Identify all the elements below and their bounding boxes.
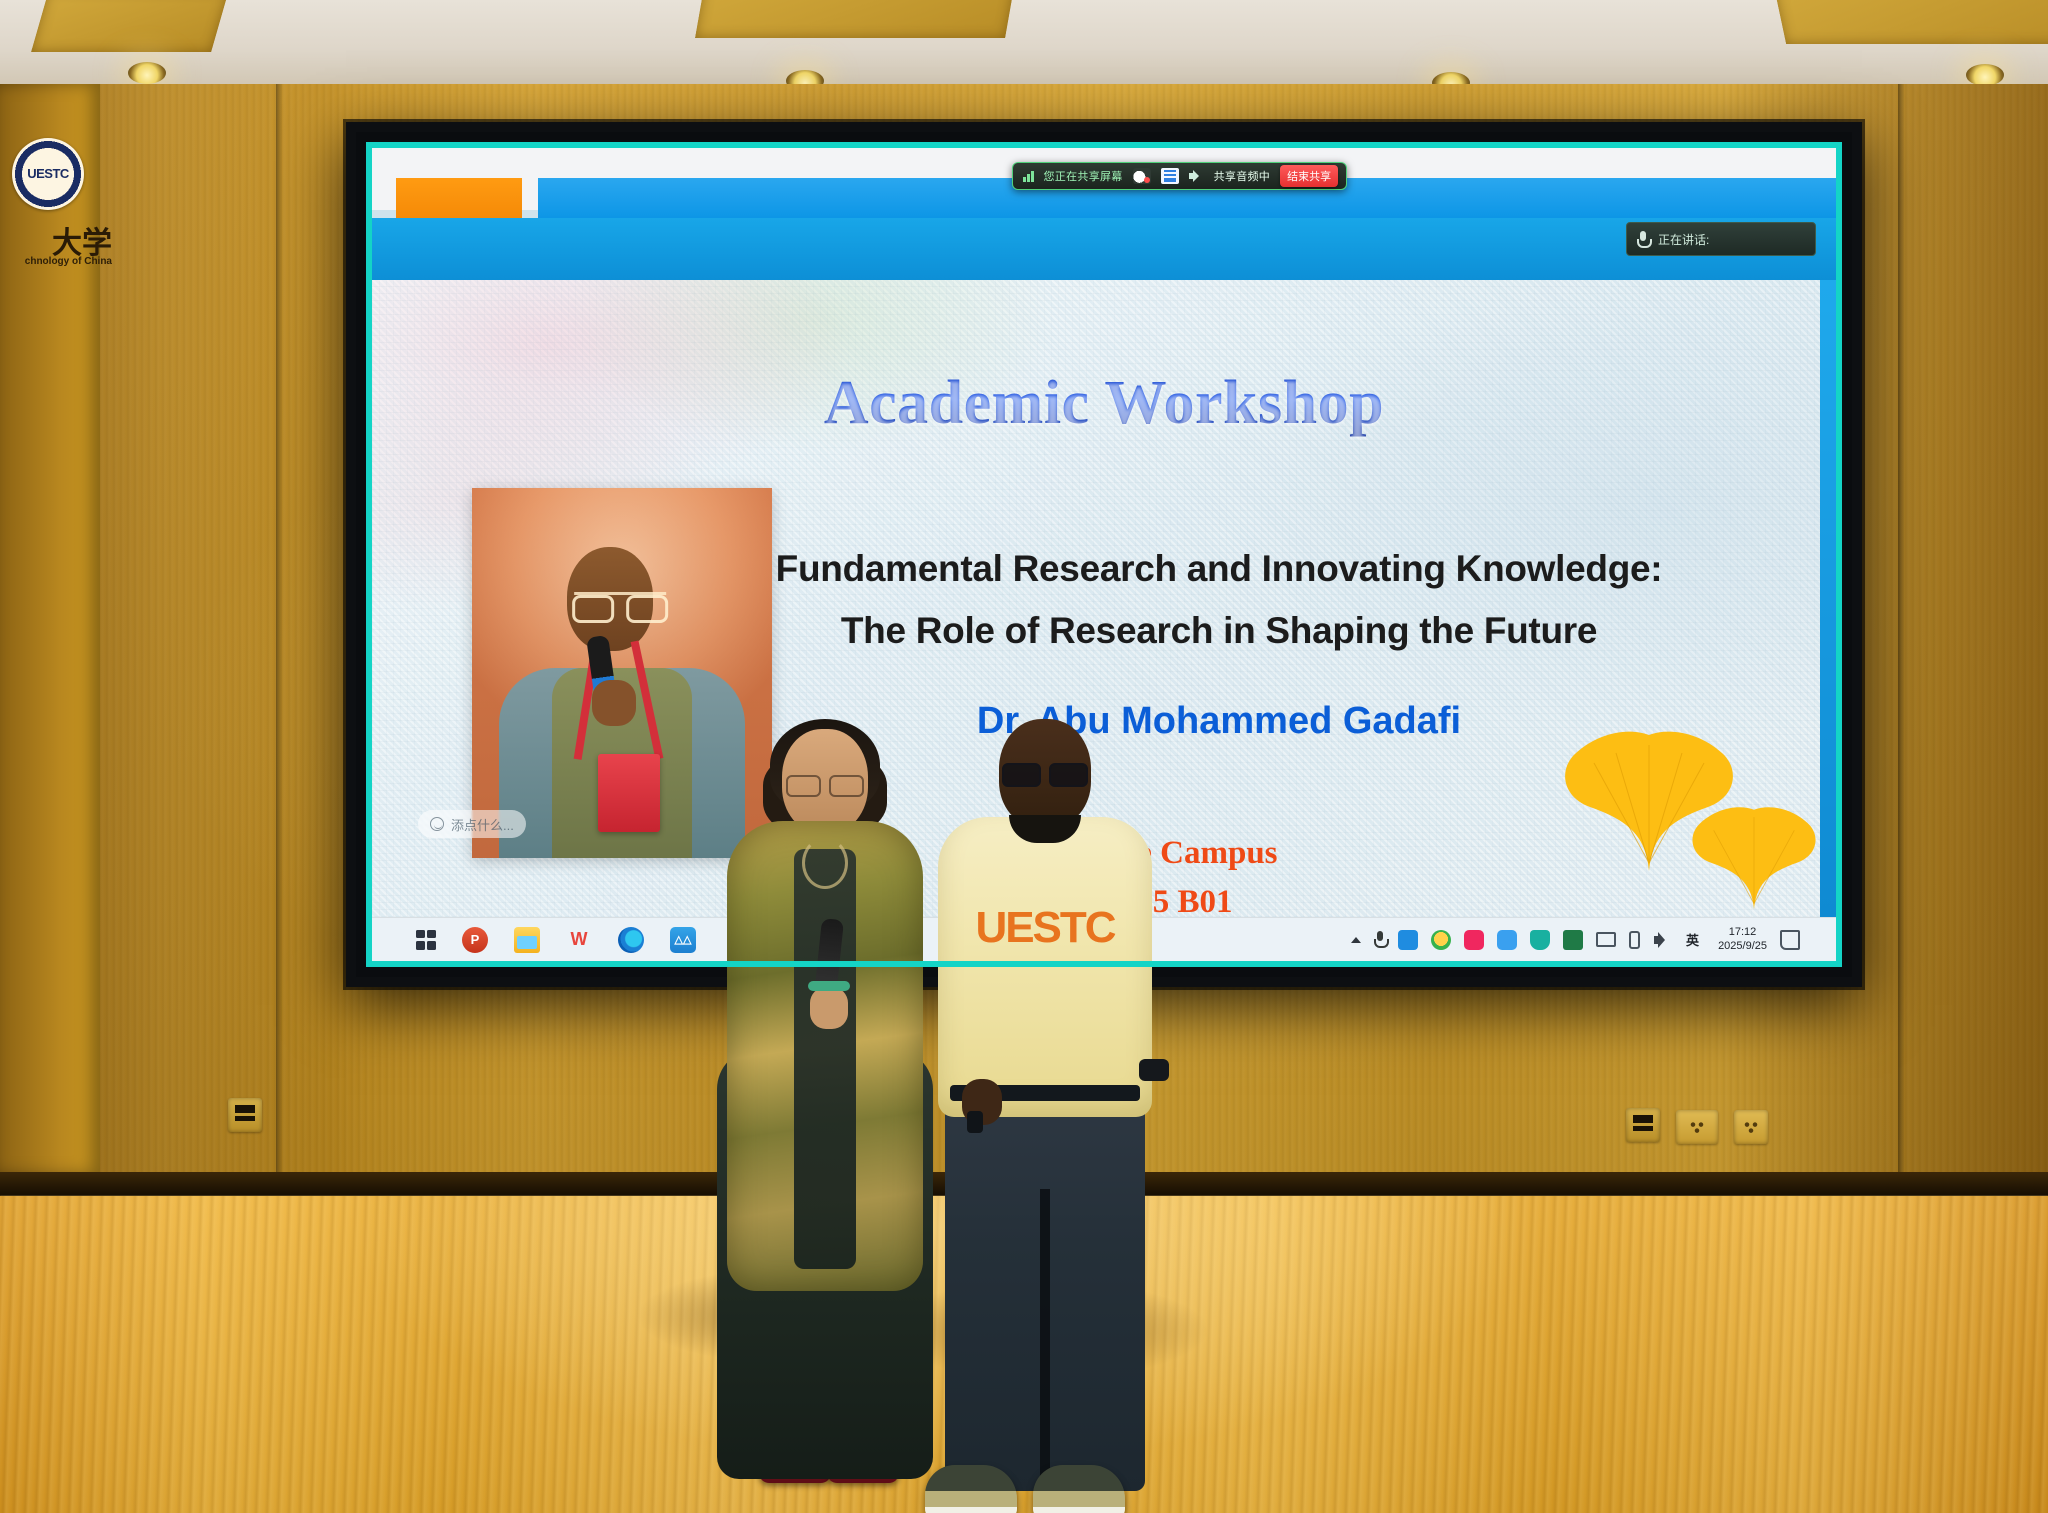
meeting-icon: △△ — [670, 927, 696, 953]
taskbar-app-powerpoint[interactable]: P — [462, 927, 488, 953]
end-share-button[interactable]: 结束共享 — [1280, 165, 1338, 187]
ceiling-downlight — [128, 62, 166, 84]
uestc-emblem-text: UESTC — [12, 166, 84, 181]
volume-icon[interactable] — [1653, 930, 1673, 950]
cloud-icon[interactable] — [1133, 168, 1151, 184]
sunglasses — [1002, 763, 1088, 785]
uestc-wall-logo: UESTC 1956 大学 chnology of China — [2, 130, 112, 280]
screen-share-toolbar[interactable]: 您正在共享屏幕 共享音频中 结束共享 — [1012, 162, 1347, 190]
taskbar-app-microsoft-edge[interactable] — [618, 927, 644, 953]
notes-icon[interactable] — [1464, 930, 1484, 950]
slide-right-accent-bar — [1820, 280, 1836, 917]
screen-watermark-bubble[interactable]: 添点什么... — [418, 810, 526, 838]
meeting-icon[interactable] — [1398, 930, 1418, 950]
ceiling — [0, 0, 2048, 92]
microphone-icon[interactable] — [1374, 931, 1385, 948]
battery-icon[interactable] — [1629, 931, 1640, 949]
app-secondary-blue-bar — [372, 218, 1836, 280]
folder-icon — [517, 936, 537, 949]
excel-icon[interactable] — [1563, 930, 1583, 950]
speaking-indicator[interactable]: 正在讲话: — [1626, 222, 1816, 256]
start-button[interactable] — [416, 930, 436, 950]
signal-bars-icon — [1023, 170, 1034, 182]
sneaker — [925, 1465, 1017, 1513]
watermark-text: 添点什么... — [451, 815, 514, 834]
chevron-up-icon[interactable] — [1351, 937, 1361, 943]
system-tray: 英 17:12 2025/9/25 — [1351, 926, 1836, 954]
person-right-man: UESTC — [915, 719, 1175, 1513]
wall-light-switch[interactable] — [1676, 1110, 1718, 1144]
uestc-shirt-logo: UESTC — [975, 903, 1114, 953]
wristwatch — [1139, 1059, 1169, 1081]
speaker-icon[interactable] — [1189, 170, 1204, 182]
presentation-clicker — [967, 1111, 983, 1133]
slide-subtitle-2: The Role of Research in Shaping the Futu… — [672, 610, 1766, 652]
wps-icon: W — [566, 927, 592, 953]
sneaker — [1033, 1465, 1125, 1513]
necklace — [802, 837, 848, 889]
wall-control-panel[interactable] — [1626, 1108, 1660, 1142]
taskbar-app-list: P W △△ V — [372, 927, 748, 953]
shield-icon[interactable] — [1530, 930, 1550, 950]
wall-seam — [1898, 84, 1904, 1174]
share-status-label: 您正在共享屏幕 — [1044, 168, 1123, 184]
uestc-english-name: chnology of China — [2, 256, 112, 267]
share-audio-label: 共享音频中 — [1214, 168, 1271, 184]
uestc-emblem: UESTC 1956 — [12, 138, 84, 210]
eyeglasses — [786, 775, 864, 795]
ginkgo-leaf-decoration — [1684, 801, 1824, 911]
taskbar-clock[interactable]: 17:12 2025/9/25 — [1712, 926, 1767, 954]
ceiling-downlight — [1966, 64, 2004, 86]
ceiling-wood-panel — [31, 0, 229, 52]
conference-room-scene: UESTC 1956 大学 chnology of China — [0, 0, 2048, 1513]
taskbar-app-meeting[interactable]: △△ — [670, 927, 696, 953]
clock-time: 17:12 — [1718, 926, 1767, 940]
slide-title: Academic Workshop — [372, 368, 1836, 439]
notification-icon[interactable] — [1780, 930, 1800, 950]
microphone-icon — [1637, 231, 1648, 248]
green-bracelet — [808, 981, 850, 991]
ime-indicator[interactable]: 英 — [1686, 930, 1699, 949]
person-left-woman — [700, 729, 950, 1513]
uestc-tshirt — [938, 817, 1152, 1117]
cloud-sync-icon[interactable] — [1497, 930, 1517, 950]
ceiling-wood-panel — [1774, 0, 2048, 44]
wall-control-panel[interactable] — [228, 1098, 262, 1132]
wall-power-outlet[interactable] — [1734, 1110, 1768, 1144]
clock-date: 2025/9/25 — [1718, 940, 1767, 954]
powerpoint-icon: P — [462, 927, 488, 953]
annotate-icon[interactable] — [1161, 168, 1179, 184]
uestc-emblem-year: 1956 — [12, 201, 84, 208]
taskbar-app-file-explorer[interactable] — [514, 927, 540, 953]
display-icon[interactable] — [1596, 932, 1616, 947]
taskbar-app-wps-office[interactable]: W — [566, 927, 592, 953]
security-icon[interactable] — [1431, 930, 1451, 950]
slide-subtitle-1: Fundamental Research and Innovating Know… — [672, 548, 1766, 590]
speaking-label: 正在讲话: — [1658, 231, 1709, 248]
ceiling-wood-panel — [695, 0, 1015, 38]
wall-seam — [276, 84, 282, 1174]
smiley-icon — [430, 817, 444, 831]
app-orange-tab[interactable] — [396, 178, 522, 218]
